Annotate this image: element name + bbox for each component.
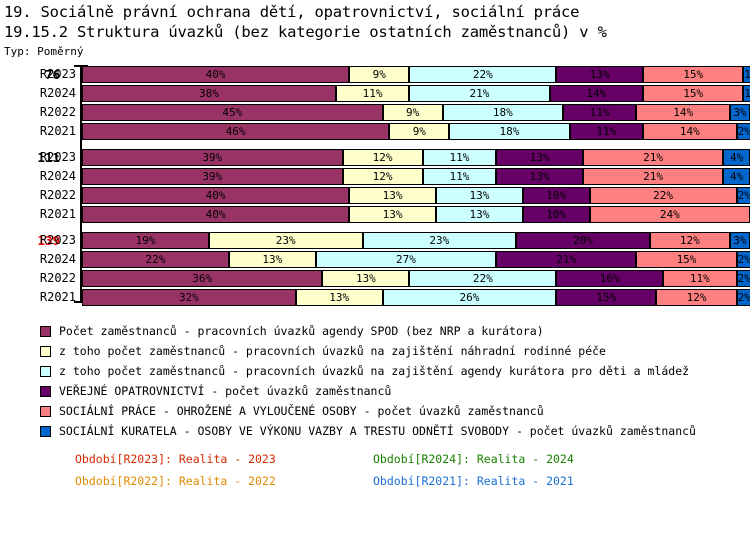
bar-segment-value: 46% <box>226 126 246 137</box>
stacked-bar[interactable]: 39%12%11%13%21%4% <box>82 149 750 166</box>
bar-segment-value: 21% <box>643 171 663 182</box>
bar-segment-value: 3% <box>733 235 746 246</box>
row-label-r2023: R2023 <box>0 65 76 84</box>
stacked-bar[interactable]: 32%13%26%15%12%2% <box>82 289 750 306</box>
row-label-r2023: R2023 <box>0 148 76 167</box>
bar-segment-value: 12% <box>373 152 393 163</box>
bar-segment-value: 13% <box>530 171 550 182</box>
row-label-r2024: R2024 <box>0 84 76 103</box>
legend-item[interactable]: z toho počet zaměstnanců - pracovních úv… <box>40 361 750 381</box>
row-label-r2024: R2024 <box>0 250 76 269</box>
header-block: 19. Sociálně právní ochrana dětí, opatro… <box>0 0 750 59</box>
bar-segment-s6[interactable]: 1% <box>743 66 750 83</box>
bar-segment-s4[interactable]: 14% <box>550 85 644 102</box>
period-legend-item: Období[R2023]: Realita - 2023 <box>75 453 276 466</box>
chart-row: R202236%13%22%16%11%2% <box>0 269 750 288</box>
chart-row: R202439%12%11%13%21%4% <box>0 167 750 186</box>
bar-segment-s3[interactable]: 11% <box>423 168 496 185</box>
legend-swatch-socialni-kuratela <box>40 426 51 437</box>
bar-segment-s6[interactable]: 2% <box>737 289 750 306</box>
bar-segment-s4[interactable]: 16% <box>556 270 663 287</box>
bar-segment-s3[interactable]: 11% <box>423 149 496 166</box>
period-legend-item: Období[R2021]: Realita - 2021 <box>373 475 574 488</box>
bar-segment-s1[interactable]: 45% <box>82 104 383 121</box>
chart-row: R202422%13%27%21%15%2% <box>0 250 750 269</box>
period-legend: Období[R2023]: Realita - 2023Období[R202… <box>0 453 750 497</box>
bar-segment-s3[interactable]: 13% <box>436 187 523 204</box>
chart-type-label: Typ: Poměrný <box>4 44 750 59</box>
bar-segment-s5[interactable]: 15% <box>643 66 743 83</box>
bar-segment-value: 22% <box>473 69 493 80</box>
bar-segment-value: 12% <box>680 235 700 246</box>
bar-segment-s6[interactable]: 1% <box>743 85 750 102</box>
bar-segment-s6[interactable]: 4% <box>723 168 750 185</box>
page-title-line2: 19.15.2 Struktura úvazků (bez kategorie … <box>4 22 750 42</box>
bar-segment-s2[interactable]: 13% <box>349 206 436 223</box>
bar-segment-s5[interactable]: 14% <box>643 123 737 140</box>
bar-segment-value: 22% <box>653 190 673 201</box>
bar-segment-value: 2% <box>738 254 750 265</box>
bar-segment-s3[interactable]: 13% <box>436 206 523 223</box>
bar-segment-s3[interactable]: 22% <box>409 66 556 83</box>
bar-segment-s4[interactable]: 13% <box>496 149 583 166</box>
bar-segment-value: 2% <box>738 273 750 284</box>
bar-segment-s1[interactable]: 46% <box>82 123 389 140</box>
bar-segment-s2[interactable]: 9% <box>383 104 443 121</box>
bar-segment-value: 12% <box>373 171 393 182</box>
row-label-r2022: R2022 <box>0 103 76 122</box>
bar-segment-s6[interactable]: 2% <box>737 270 750 287</box>
bar-segment-s1[interactable]: 32% <box>82 289 296 306</box>
bar-segment-value: 10% <box>546 209 566 220</box>
bar-segment-value: 2% <box>738 292 750 303</box>
bar-segment-s5[interactable]: 12% <box>650 232 730 249</box>
bar-segment-value: 11% <box>596 126 616 137</box>
bar-segment-s3[interactable]: 21% <box>409 85 549 102</box>
bar-segment-value: 13% <box>383 190 403 201</box>
bar-segment-value: 13% <box>530 152 550 163</box>
bar-segment-s4[interactable]: 21% <box>496 251 636 268</box>
bar-segment-s6[interactable]: 2% <box>737 123 750 140</box>
bar-segment-value: 22% <box>146 254 166 265</box>
bar-segment-value: 23% <box>429 235 449 246</box>
bar-segment-value: 20% <box>573 235 593 246</box>
bar-segment-s2[interactable]: 9% <box>349 66 409 83</box>
bar-segment-s3[interactable]: 23% <box>363 232 517 249</box>
bar-segment-s1[interactable]: 40% <box>82 206 349 223</box>
legend-item-label: Počet zaměstnanců - pracovních úvazků ag… <box>59 325 544 338</box>
chart-row: R202240%13%13%10%22%2% <box>0 186 750 205</box>
bar-segment-value: 11% <box>449 152 469 163</box>
bar-segment-value: 4% <box>730 171 743 182</box>
bar-segment-s4[interactable]: 13% <box>556 66 643 83</box>
period-legend-item: Období[R2022]: Realita - 2022 <box>75 475 276 488</box>
legend-swatch-verejne-opatrovnictvi <box>40 386 51 397</box>
bar-segment-value: 13% <box>329 292 349 303</box>
bar-segment-s5[interactable]: 12% <box>656 289 736 306</box>
row-label-r2021: R2021 <box>0 288 76 307</box>
bar-segment-s4[interactable]: 20% <box>516 232 650 249</box>
bar-segment-s6[interactable]: 3% <box>730 104 750 121</box>
bar-segment-value: 13% <box>356 273 376 284</box>
stacked-bar[interactable]: 19%23%23%20%12%3% <box>82 232 750 249</box>
bar-segment-value: 40% <box>206 190 226 201</box>
bar-segment-s4[interactable]: 10% <box>523 187 590 204</box>
chart-group: 76R202340%9%22%13%15%1%R202438%11%21%14%… <box>0 65 750 141</box>
stacked-bar[interactable]: 40%13%13%10%22%2% <box>82 187 750 204</box>
bar-segment-value: 14% <box>673 107 693 118</box>
bar-segment-s2[interactable]: 12% <box>343 149 423 166</box>
bar-segment-value: 12% <box>687 292 707 303</box>
bar-segment-s1[interactable]: 39% <box>82 168 343 185</box>
bar-segment-s4[interactable]: 10% <box>523 206 590 223</box>
stacked-bar-chart: 76R202340%9%22%13%15%1%R202438%11%21%14%… <box>0 65 750 309</box>
legend-item[interactable]: Počet zaměstnanců - pracovních úvazků ag… <box>40 321 750 341</box>
bar-segment-value: 23% <box>276 235 296 246</box>
bar-segment-s2[interactable]: 13% <box>349 187 436 204</box>
legend-swatch-socialni-prace <box>40 406 51 417</box>
bar-segment-value: 36% <box>192 273 212 284</box>
legend-item-label: SOCIÁLNÍ KURATELA - OSOBY VE VÝKONU VAZB… <box>59 425 696 438</box>
stacked-bar[interactable]: 22%13%27%21%15%2% <box>82 251 750 268</box>
row-label-r2023: R2023 <box>0 231 76 250</box>
bar-segment-s3[interactable]: 27% <box>316 251 496 268</box>
bar-segment-value: 9% <box>413 126 426 137</box>
chart-groups: 76R202340%9%22%13%15%1%R202438%11%21%14%… <box>0 65 750 307</box>
bar-segment-value: 15% <box>677 254 697 265</box>
bar-segment-value: 21% <box>469 88 489 99</box>
bar-segment-value: 18% <box>493 107 513 118</box>
bar-segment-s4[interactable]: 11% <box>570 123 643 140</box>
legend-item-label: z toho počet zaměstnanců - pracovních úv… <box>59 345 606 358</box>
chart-row: R202340%9%22%13%15%1% <box>0 65 750 84</box>
bar-segment-s3[interactable]: 18% <box>443 104 563 121</box>
bar-segment-value: 13% <box>262 254 282 265</box>
bar-segment-value: 13% <box>383 209 403 220</box>
bar-segment-value: 18% <box>500 126 520 137</box>
bar-segment-value: 39% <box>202 171 222 182</box>
bar-segment-value: 16% <box>600 273 620 284</box>
bar-segment-s5[interactable]: 21% <box>583 168 723 185</box>
bar-segment-s6[interactable]: 4% <box>723 149 750 166</box>
bar-segment-value: 14% <box>586 88 606 99</box>
bar-segment-s2[interactable]: 13% <box>296 289 383 306</box>
bar-segment-value: 13% <box>469 190 489 201</box>
bar-segment-value: 9% <box>406 107 419 118</box>
bar-segment-s2[interactable]: 9% <box>389 123 449 140</box>
stacked-bar[interactable]: 36%13%22%16%11%2% <box>82 270 750 287</box>
bar-segment-s5[interactable]: 14% <box>636 104 730 121</box>
bar-segment-value: 11% <box>690 273 710 284</box>
bar-segment-value: 45% <box>222 107 242 118</box>
bar-segment-s1[interactable]: 39% <box>82 149 343 166</box>
bar-segment-value: 26% <box>459 292 479 303</box>
bar-segment-s5[interactable]: 11% <box>663 270 736 287</box>
row-label-r2022: R2022 <box>0 269 76 288</box>
bar-segment-value: 11% <box>363 88 383 99</box>
legend-item[interactable]: VEŘEJNÉ OPATROVNICTVÍ - počet úvazků zam… <box>40 381 750 401</box>
bar-segment-value: 24% <box>660 209 680 220</box>
bar-segment-s2[interactable]: 11% <box>336 85 409 102</box>
chart-row: R202339%12%11%13%21%4% <box>0 148 750 167</box>
bar-segment-value: 11% <box>449 171 469 182</box>
legend-item-label: SOCIÁLNÍ PRÁCE - OHROŽENÉ A VYLOUČENÉ OS… <box>59 405 544 418</box>
bar-segment-s2[interactable]: 23% <box>209 232 363 249</box>
bar-segment-s3[interactable]: 22% <box>409 270 556 287</box>
bar-segment-value: 13% <box>469 209 489 220</box>
bar-segment-s3[interactable]: 26% <box>383 289 557 306</box>
legend-item[interactable]: SOCIÁLNÍ KURATELA - OSOBY VE VÝKONU VAZB… <box>40 421 750 441</box>
stacked-bar[interactable]: 40%13%13%10%24% <box>82 206 750 223</box>
bar-segment-value: 14% <box>680 126 700 137</box>
page-title-line1: 19. Sociálně právní ochrana dětí, opatro… <box>4 2 750 22</box>
chart-row: R202132%13%26%15%12%2% <box>0 288 750 307</box>
bar-segment-value: 40% <box>206 69 226 80</box>
bar-segment-s4[interactable]: 11% <box>563 104 636 121</box>
bar-segment-s1[interactable]: 40% <box>82 66 349 83</box>
bar-segment-value: 32% <box>179 292 199 303</box>
chart-row: R202319%23%23%20%12%3% <box>0 231 750 250</box>
bar-segment-s5[interactable]: 15% <box>636 251 736 268</box>
bar-segment-s1[interactable]: 40% <box>82 187 349 204</box>
bar-segment-s2[interactable]: 13% <box>322 270 409 287</box>
stacked-bar[interactable]: 39%12%11%13%21%4% <box>82 168 750 185</box>
legend-item-label: z toho počet zaměstnanců - pracovních úv… <box>59 365 689 378</box>
chart-row: R202245%9%18%11%14%3% <box>0 103 750 122</box>
legend-swatch-nahradni-rodinna-pece <box>40 346 51 357</box>
chart-group: 111R202339%12%11%13%21%4%R202439%12%11%1… <box>0 148 750 224</box>
row-label-r2022: R2022 <box>0 186 76 205</box>
bar-segment-value: 3% <box>733 107 746 118</box>
chart-group: 139R202319%23%23%20%12%3%R202422%13%27%2… <box>0 231 750 307</box>
series-legend: Počet zaměstnanců - pracovních úvazků ag… <box>0 321 750 441</box>
bar-segment-value: 15% <box>596 292 616 303</box>
legend-swatch-kurator-deti-mladez <box>40 366 51 377</box>
bar-segment-s1[interactable]: 19% <box>82 232 209 249</box>
bar-segment-s2[interactable]: 13% <box>229 251 316 268</box>
row-label-r2021: R2021 <box>0 205 76 224</box>
bar-segment-value: 9% <box>373 69 386 80</box>
row-label-r2024: R2024 <box>0 167 76 186</box>
bar-segment-value: 13% <box>590 69 610 80</box>
bar-segment-value: 38% <box>199 88 219 99</box>
period-legend-item: Období[R2024]: Realita - 2024 <box>373 453 574 466</box>
bar-segment-value: 39% <box>202 152 222 163</box>
stacked-bar[interactable]: 38%11%21%14%15%1% <box>82 85 750 102</box>
bar-segment-s1[interactable]: 38% <box>82 85 336 102</box>
chart-row: R202146%9%18%11%14%2% <box>0 122 750 141</box>
bar-segment-s1[interactable]: 22% <box>82 251 229 268</box>
bar-segment-value: 1% <box>744 69 750 80</box>
bar-segment-s5[interactable]: 22% <box>590 187 737 204</box>
bar-segment-s4[interactable]: 13% <box>496 168 583 185</box>
bar-segment-value: 2% <box>738 190 750 201</box>
bar-segment-value: 1% <box>744 88 750 99</box>
bar-segment-value: 19% <box>136 235 156 246</box>
legend-item[interactable]: z toho počet zaměstnanců - pracovních úv… <box>40 341 750 361</box>
bar-segment-value: 2% <box>738 126 750 137</box>
stacked-bar[interactable]: 45%9%18%11%14%3% <box>82 104 750 121</box>
bar-segment-value: 10% <box>546 190 566 201</box>
bar-segment-s6[interactable]: 3% <box>730 232 750 249</box>
chart-row: R202438%11%21%14%15%1% <box>0 84 750 103</box>
bar-segment-s6[interactable]: 2% <box>737 251 750 268</box>
bar-segment-value: 22% <box>473 273 493 284</box>
legend-swatch-pocet-zamestnancu-spod <box>40 326 51 337</box>
bar-segment-s3[interactable]: 18% <box>449 123 569 140</box>
bar-segment-value: 21% <box>556 254 576 265</box>
bar-segment-value: 11% <box>590 107 610 118</box>
stacked-bar[interactable]: 40%9%22%13%15%1% <box>82 66 750 83</box>
bar-segment-value: 15% <box>683 69 703 80</box>
bar-segment-value: 21% <box>643 152 663 163</box>
bar-segment-s4[interactable]: 15% <box>556 289 656 306</box>
bar-segment-s5[interactable]: 24% <box>590 206 750 223</box>
bar-segment-s6[interactable]: 2% <box>737 187 750 204</box>
stacked-bar[interactable]: 46%9%18%11%14%2% <box>82 123 750 140</box>
bar-segment-value: 40% <box>206 209 226 220</box>
bar-segment-value: 27% <box>396 254 416 265</box>
bar-segment-s5[interactable]: 21% <box>583 149 723 166</box>
chart-row: R202140%13%13%10%24% <box>0 205 750 224</box>
legend-item[interactable]: SOCIÁLNÍ PRÁCE - OHROŽENÉ A VYLOUČENÉ OS… <box>40 401 750 421</box>
bar-segment-s2[interactable]: 12% <box>343 168 423 185</box>
bar-segment-value: 4% <box>730 152 743 163</box>
legend-item-label: VEŘEJNÉ OPATROVNICTVÍ - počet úvazků zam… <box>59 385 391 398</box>
row-label-r2021: R2021 <box>0 122 76 141</box>
bar-segment-s5[interactable]: 15% <box>643 85 743 102</box>
bar-segment-value: 15% <box>683 88 703 99</box>
bar-segment-s1[interactable]: 36% <box>82 270 322 287</box>
